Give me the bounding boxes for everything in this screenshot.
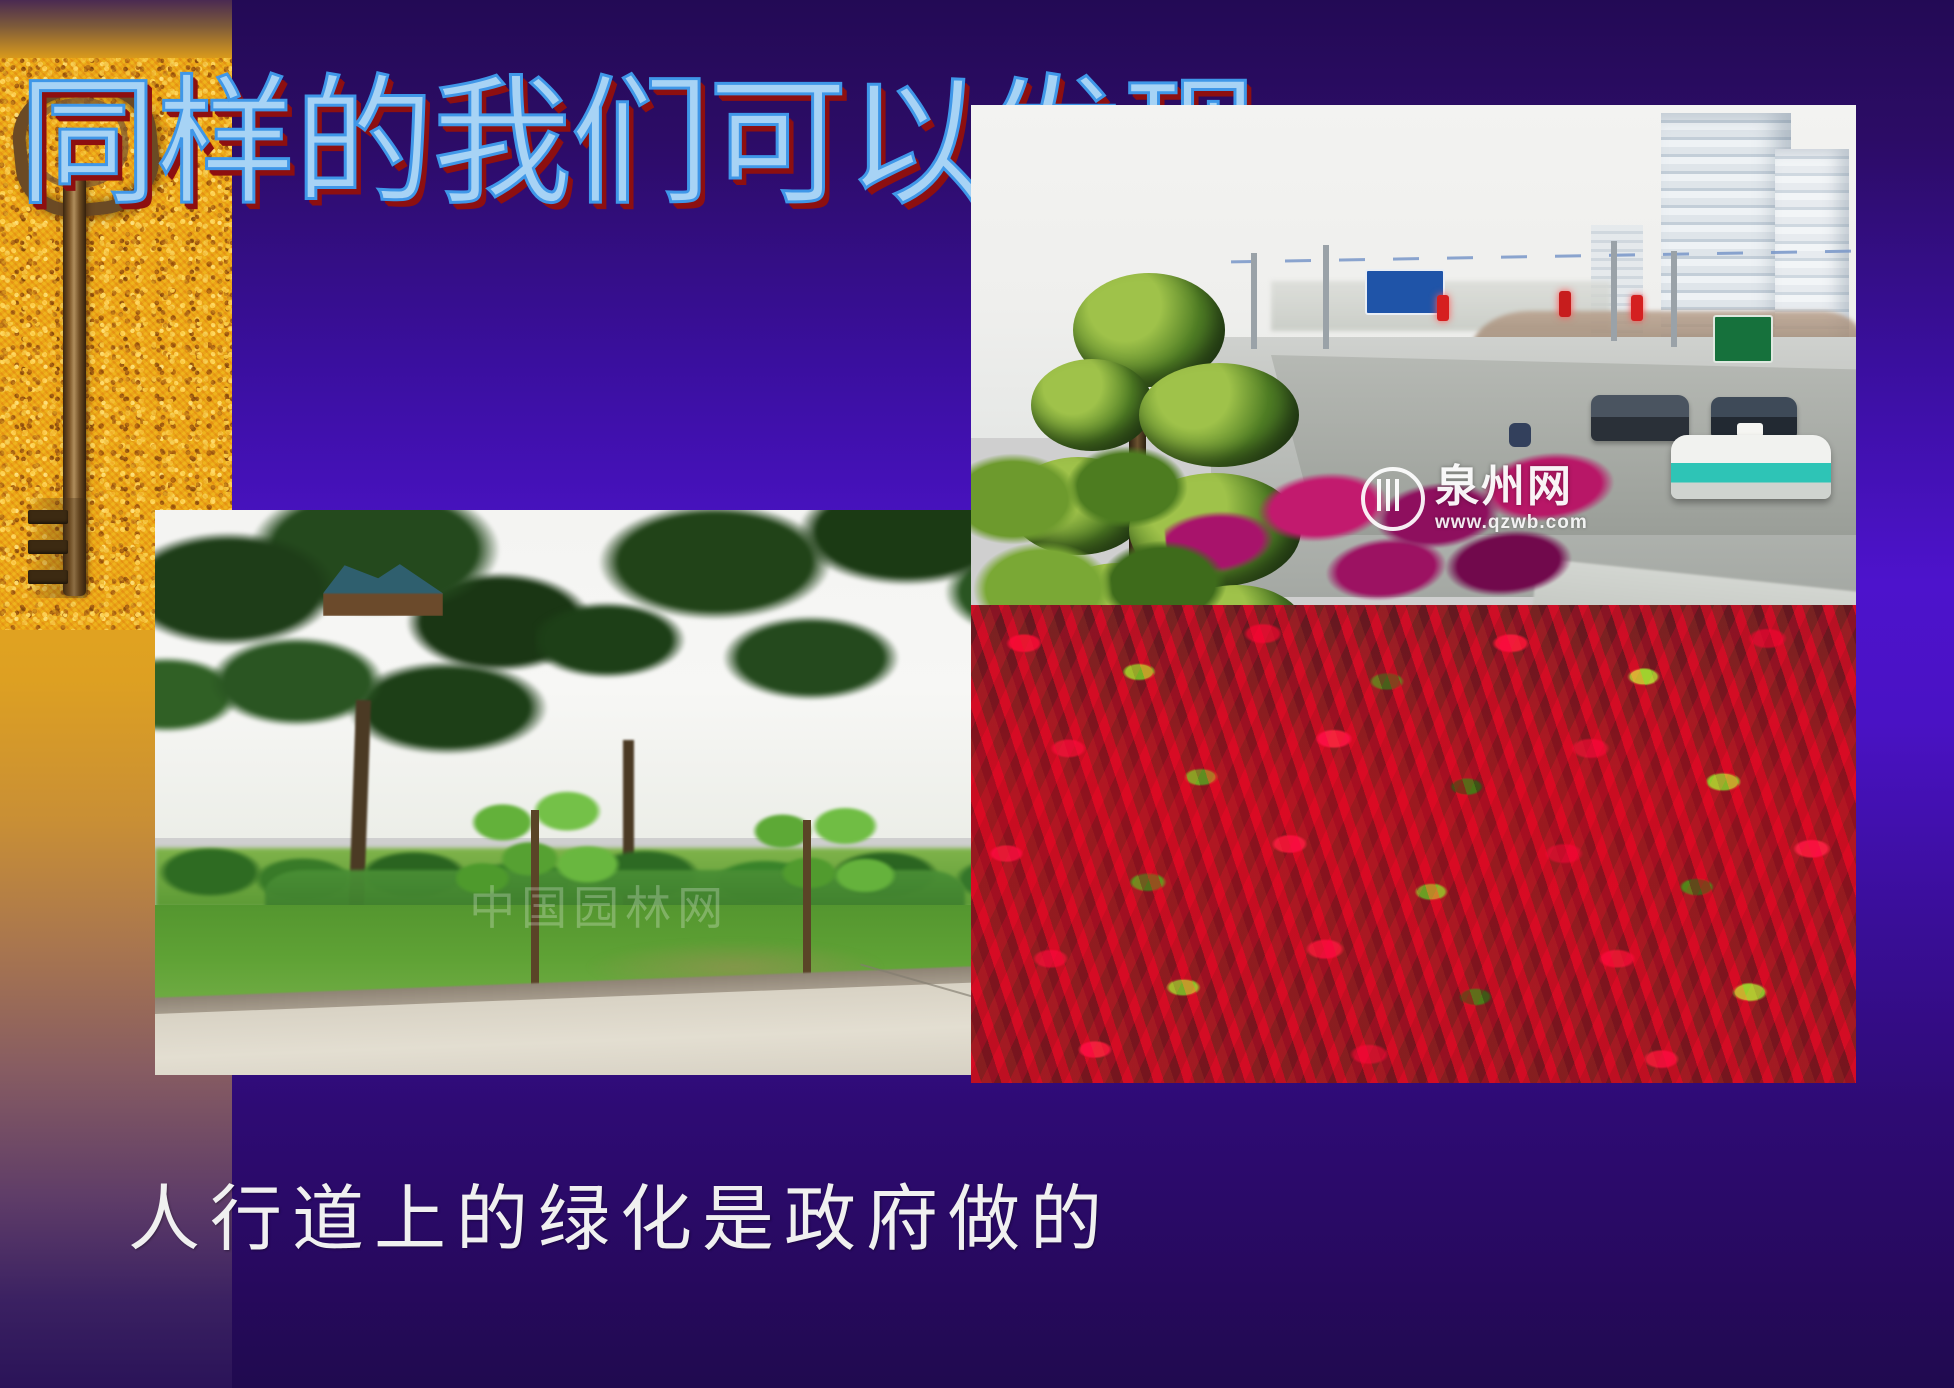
photo-road-sign-green (1713, 315, 1773, 363)
photo-traffic-light (1437, 295, 1449, 321)
key-tooth (28, 510, 68, 524)
slide-canvas: 同样的我们可以发现 中国园林网 (0, 0, 1954, 1388)
photo-taxi (1671, 435, 1831, 499)
photo-boulevard-flowers: 泉州网 www.qzwb.com (971, 105, 1856, 1083)
photo-light-pole (1671, 251, 1677, 347)
photo-sapling-trunk (803, 820, 811, 995)
photo-sapling-trunk (531, 810, 539, 995)
photo-sapling-foliage (455, 786, 625, 926)
key-tooth (28, 570, 68, 584)
photo-light-pole (1611, 241, 1617, 341)
photo-topiary-ball (1031, 359, 1153, 451)
photo-red-flower-bed-texture (971, 605, 1856, 1083)
photo-traffic-light (1631, 295, 1643, 321)
photo-park-lawn: 中国园林网 (155, 510, 1079, 1075)
photo-traffic-light (1559, 291, 1571, 317)
key-tooth (28, 540, 68, 554)
photo-sapling-foliage (733, 800, 898, 930)
photo-light-pole (1323, 245, 1329, 349)
photo-road-sign-blue (1365, 269, 1445, 315)
slide-caption: 人行道上的绿化是政府做的 (128, 1182, 1112, 1258)
